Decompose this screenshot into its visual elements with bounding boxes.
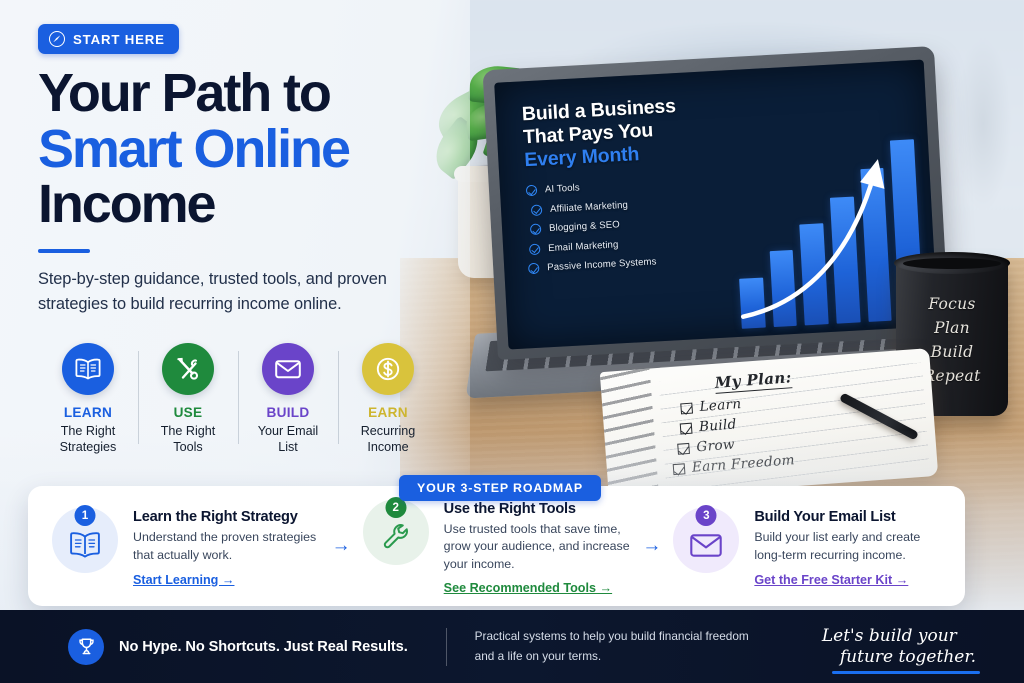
trophy-badge <box>68 629 104 665</box>
poster-canvas: Build a Business That Pays You Every Mon… <box>0 0 1024 683</box>
step-1-desc: Understand the proven strategies that ac… <box>133 529 320 564</box>
laptop-lid: Build a Business That Pays You Every Mon… <box>482 46 949 360</box>
hero-content: START HERE Your Path to Smart Online Inc… <box>38 24 438 456</box>
screen-checklist-label: Passive Income Systems <box>547 256 657 273</box>
step-1-title: Learn the Right Strategy <box>133 509 320 525</box>
pillar-build[interactable]: BUILD Your Email List <box>238 343 338 456</box>
pillar-earn[interactable]: EARN Recurring Income <box>338 343 438 456</box>
footer-subtext: Practical systems to help you build fina… <box>475 627 749 665</box>
pillar-earn-sub: Recurring Income <box>342 423 434 456</box>
pillar-row: LEARN The Right Strategies USE <box>38 343 438 456</box>
check-circle-icon <box>530 224 542 236</box>
check-circle-icon <box>526 185 538 197</box>
pillar-build-circle <box>262 343 314 395</box>
step-3-title: Build Your Email List <box>754 509 941 525</box>
step-3-body: Build Your Email List Build your list ea… <box>754 503 941 588</box>
envelope-icon <box>274 358 302 380</box>
envelope-icon <box>689 532 723 559</box>
roadmap-step-3[interactable]: 3 Build Your Email List Build your list … <box>673 503 941 588</box>
step-2-body: Use the Right Tools Use trusted tools th… <box>444 495 631 598</box>
footer-bar: No Hype. No Shortcuts. Just Real Results… <box>0 610 1024 683</box>
page-title-line3: Income <box>38 174 214 234</box>
mug-line: Plan <box>896 316 1008 340</box>
screen-headline-line1: Build a Business <box>521 95 676 125</box>
step-1-body: Learn the Right Strategy Understand the … <box>133 503 320 588</box>
mug-rim <box>894 252 1010 274</box>
mug-line: Focus <box>896 292 1008 316</box>
footer-script-line2: future together. <box>822 647 976 667</box>
footer-script-signature: Let's build your future together. <box>822 626 976 667</box>
compass-icon <box>49 31 65 47</box>
screen-checklist-label: AI Tools <box>545 183 580 196</box>
check-circle-icon <box>531 204 543 216</box>
step-2-title: Use the Right Tools <box>444 501 631 517</box>
page-title-line1: Your Path to <box>38 63 330 123</box>
open-book-icon <box>74 357 102 381</box>
step-1-number: 1 <box>75 505 96 526</box>
roadmap-card: 1 Learn the Right Strategy Understand th… <box>28 486 965 606</box>
checkbox-checked-icon <box>680 402 693 414</box>
roadmap-tab-label: YOUR 3-STEP ROADMAP <box>399 475 601 501</box>
trophy-icon <box>77 637 96 656</box>
roadmap-connector-arrow-1: → <box>320 535 363 557</box>
screen-checklist-label: Affiliate Marketing <box>550 200 628 215</box>
step-2-icon-circle: 2 <box>363 499 429 565</box>
pillar-earn-circle <box>362 343 414 395</box>
footer-tagline: No Hype. No Shortcuts. Just Real Results… <box>119 639 408 655</box>
page-title: Your Path to Smart Online Income <box>38 66 438 233</box>
check-circle-icon <box>529 243 541 255</box>
pillar-use-key: USE <box>142 405 234 420</box>
step-1-icon-circle: 1 <box>52 507 118 573</box>
pillar-use-sub: The Right Tools <box>142 423 234 456</box>
wrench-icon <box>381 522 411 552</box>
footer-subtext-line2: and a life on your terms. <box>475 649 602 663</box>
pillar-build-key: BUILD <box>242 405 334 420</box>
start-here-badge[interactable]: START HERE <box>38 24 179 54</box>
step-3-link[interactable]: Get the Free Starter Kit → <box>754 573 908 587</box>
pillar-learn-key: LEARN <box>42 405 134 420</box>
step-2-desc: Use trusted tools that save time, grow y… <box>444 521 631 574</box>
pillar-learn-sub: The Right Strategies <box>42 423 134 456</box>
pillar-earn-key: EARN <box>342 405 434 420</box>
step-1-link[interactable]: Start Learning → <box>133 573 234 587</box>
growth-arrow-icon <box>732 139 923 329</box>
step-3-icon-circle: 3 <box>673 507 739 573</box>
hero-subtitle: Step-by-step guidance, trusted tools, an… <box>38 267 438 317</box>
pillar-use-circle <box>162 343 214 395</box>
open-book-icon <box>68 530 102 560</box>
footer-subtext-line1: Practical systems to help you build fina… <box>475 629 749 643</box>
step-2-link[interactable]: See Recommended Tools → <box>444 581 612 595</box>
notebook-item-label: Learn <box>699 396 742 415</box>
footer-divider <box>446 628 447 666</box>
footer-script-underline <box>832 671 980 674</box>
laptop-screen: Build a Business That Pays You Every Mon… <box>494 60 938 350</box>
screen-checklist-label: Email Marketing <box>548 239 619 254</box>
roadmap-connector-arrow-2: → <box>630 535 673 557</box>
page-title-line2: Smart Online <box>38 122 438 178</box>
pillar-build-sub: Your Email List <box>242 423 334 456</box>
footer-script-line1: Let's build your <box>822 626 957 646</box>
check-circle-icon <box>528 263 540 275</box>
screen-checklist-label: Blogging & SEO <box>549 219 620 234</box>
pillar-learn-circle <box>62 343 114 395</box>
laptop: Build a Business That Pays You Every Mon… <box>482 46 949 360</box>
start-here-badge-label: START HERE <box>73 32 165 47</box>
tools-icon <box>175 356 201 382</box>
pillar-learn[interactable]: LEARN The Right Strategies <box>38 343 138 456</box>
growth-bar-chart <box>732 139 923 329</box>
title-underline-rule <box>38 249 90 253</box>
pillar-use[interactable]: USE The Right Tools <box>138 343 238 456</box>
dollar-coin-icon <box>374 355 402 383</box>
roadmap-step-1[interactable]: 1 Learn the Right Strategy Understand th… <box>52 503 320 588</box>
step-3-desc: Build your list early and create long-te… <box>754 529 941 564</box>
roadmap-step-2[interactable]: 2 Use the Right Tools Use trusted tools … <box>363 495 631 598</box>
step-3-number: 3 <box>696 505 717 526</box>
